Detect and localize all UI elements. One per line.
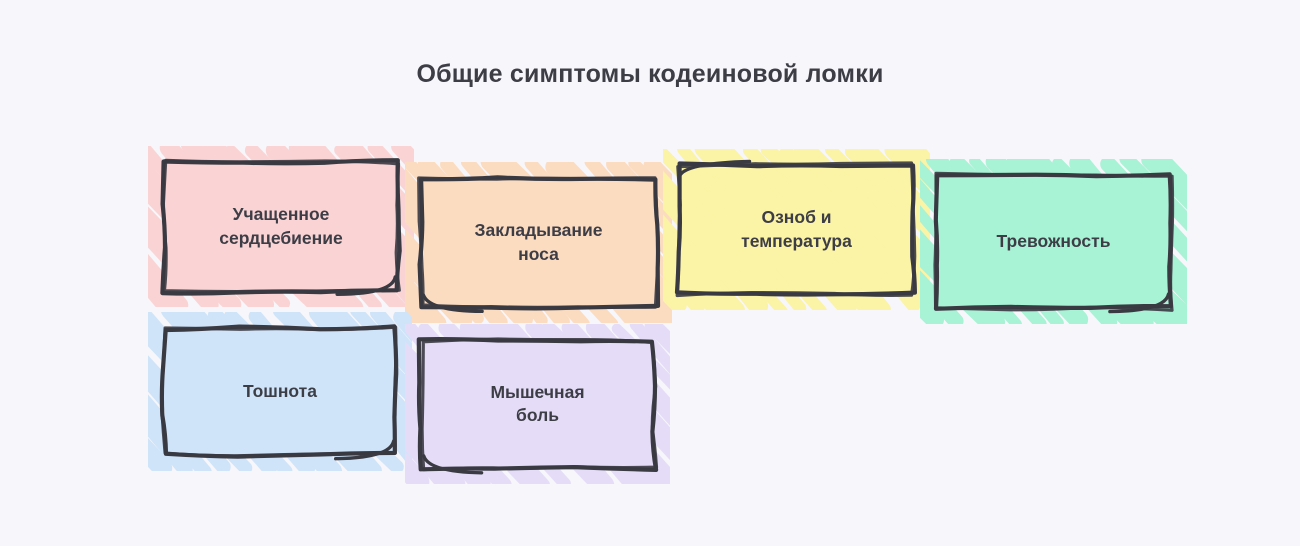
page-title: Общие симптомы кодеиновой ломки: [0, 60, 1300, 89]
symptom-card[interactable]: Тошнота: [164, 328, 396, 455]
symptom-card-label: Тошнота: [164, 328, 396, 455]
symptom-card[interactable]: Учащенное сердцебиение: [164, 162, 398, 291]
symptom-card[interactable]: Мышечная боль: [421, 340, 654, 468]
symptom-card[interactable]: Закладывание носа: [421, 178, 656, 307]
symptom-card-label: Закладывание носа: [421, 178, 656, 307]
symptom-card-label: Мышечная боль: [421, 340, 654, 468]
symptom-card[interactable]: Тревожность: [936, 175, 1171, 308]
symptom-card-label: Учащенное сердцебиение: [164, 162, 398, 291]
symptom-card-label: Озноб и температура: [679, 165, 914, 294]
diagram-canvas: Общие симптомы кодеиновой ломки Учащенно…: [0, 0, 1300, 546]
symptom-card-label: Тревожность: [936, 175, 1171, 308]
symptom-card[interactable]: Озноб и температура: [679, 165, 914, 294]
